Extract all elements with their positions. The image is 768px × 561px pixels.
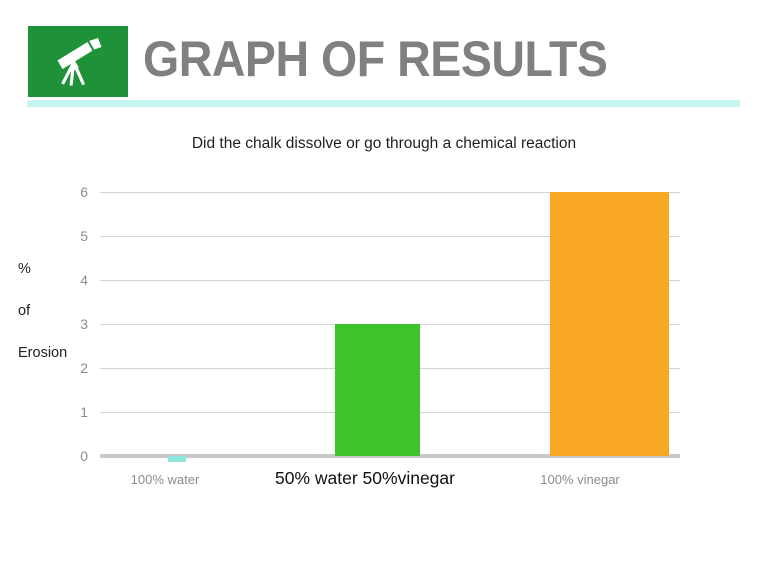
telescope-icon [51,38,105,86]
y-axis-title-line-3: Erosion [18,343,67,364]
y-axis-title-line-2: of [18,301,67,322]
y-tick-label-2: 2 [80,360,88,376]
y-tick-label-5: 5 [80,228,88,244]
slide-header: GRAPH OF RESULTS [0,0,768,112]
y-axis-title: % of Erosion [18,238,67,385]
category-label-100-percent-vinegar: 100% vinegar [480,472,680,487]
chart-title: Did the chalk dissolve or go through a c… [0,135,768,153]
y-axis-title-line-1: % [18,259,67,280]
header-divider [27,100,740,107]
bar-100-percent-vinegar [550,192,669,456]
y-tick-label-0: 0 [80,448,88,464]
y-tick-label-4: 4 [80,272,88,288]
bar-chart: Did the chalk dissolve or go through a c… [0,112,768,561]
y-tick-label-1: 1 [80,404,88,420]
header-icon-box [28,26,128,97]
category-label-50-water-50-vinegar: 50% water 50%vinegar [255,468,475,489]
bar-100-percent-water [168,456,186,462]
category-label-100-percent-water: 100% water [100,472,230,487]
y-tick-label-6: 6 [80,184,88,200]
bar-50-percent-water-50-vinegar [335,324,420,456]
y-tick-label-3: 3 [80,316,88,332]
plot-area: 6 5 4 3 2 1 0 [100,192,680,456]
page-title: GRAPH OF RESULTS [143,28,701,90]
